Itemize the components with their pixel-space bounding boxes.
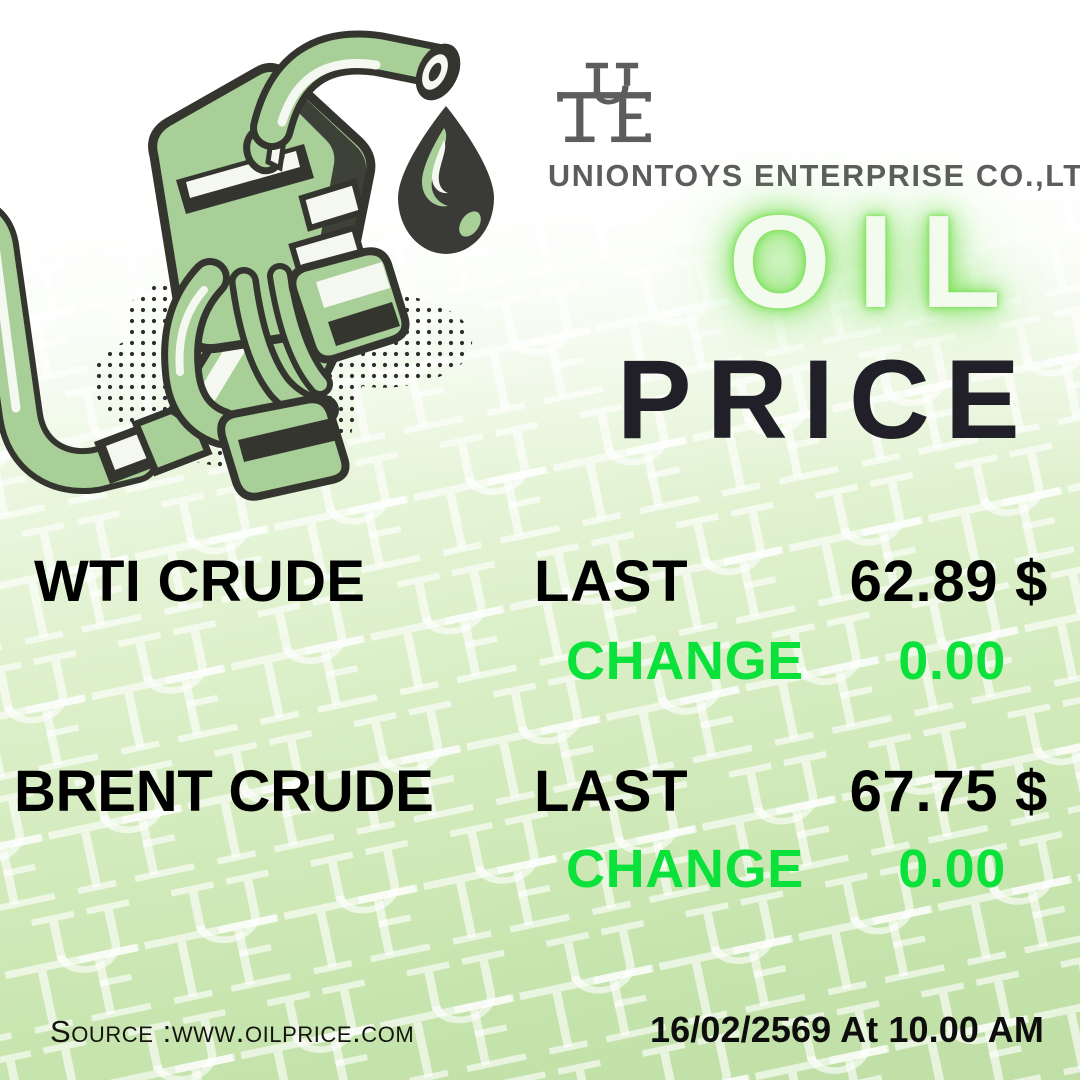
fuel-nozzle-illustration xyxy=(0,10,506,540)
product-name: WTI CRUDE xyxy=(34,548,365,615)
tue-monogram-logo-icon xyxy=(552,58,664,150)
nozzle-knob xyxy=(242,125,286,175)
oil-drop-icon xyxy=(398,106,494,254)
nozzle-lever xyxy=(292,251,405,359)
nozzle-body xyxy=(153,67,371,348)
last-label: LAST xyxy=(534,548,688,615)
title-oil: OIL xyxy=(617,196,1046,328)
nozzle-window xyxy=(176,144,314,214)
fuel-hose xyxy=(0,208,136,471)
nozzle-spout xyxy=(272,36,469,128)
last-label: LAST xyxy=(534,758,688,825)
title-price: PRICE xyxy=(617,344,1046,456)
change-label: CHANGE xyxy=(566,838,804,900)
quote-line-last: WTI CRUDE LAST 62.89 $ xyxy=(0,548,1080,618)
oil-price-poster: UNIONTOYS ENTERPRISE CO.,LTD. OIL PRICE … xyxy=(0,0,1080,1080)
product-name: BRENT CRUDE xyxy=(14,758,434,825)
quote-row-wti: WTI CRUDE LAST 62.89 $ CHANGE 0.00 xyxy=(0,548,1080,700)
hose-collar xyxy=(94,404,208,484)
timestamp: 16/02/2569 At 10.00 AM xyxy=(650,1009,1044,1051)
nozzle-lower-body xyxy=(172,292,340,478)
last-value: 67.75 $ xyxy=(850,758,1048,825)
change-label: CHANGE xyxy=(566,630,804,692)
halftone-shadow xyxy=(0,260,506,540)
source-credit: Source :www.oilprice.com xyxy=(50,1014,414,1050)
nozzle-base xyxy=(221,399,345,497)
quote-line-last: BRENT CRUDE LAST 67.75 $ xyxy=(0,758,1080,828)
change-value: 0.00 xyxy=(898,838,1006,900)
change-value: 0.00 xyxy=(898,630,1006,692)
quote-line-change: CHANGE 0.00 xyxy=(0,838,1080,908)
quote-row-brent: BRENT CRUDE LAST 67.75 $ CHANGE 0.00 xyxy=(0,758,1080,908)
headline: OIL PRICE xyxy=(617,196,1046,456)
quote-line-change: CHANGE 0.00 xyxy=(0,630,1080,700)
last-value: 62.89 $ xyxy=(850,548,1048,615)
company-logo-block: UNIONTOYS ENTERPRISE CO.,LTD. xyxy=(548,58,1048,194)
nozzle-trigger xyxy=(180,276,325,428)
